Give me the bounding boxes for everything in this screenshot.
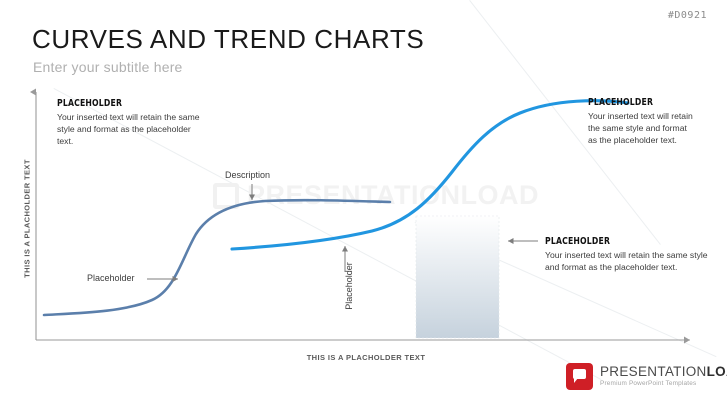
logo-name-bold: LOAD: [707, 364, 727, 379]
annotation-placeholder-left: Placeholder: [87, 273, 135, 283]
x-axis-label: THIS IS A PLACHOLDER TEXT: [236, 353, 496, 362]
trend-chart: [0, 0, 727, 409]
callout-top-right[interactable]: PLACEHOLDER Your inserted text will reta…: [588, 97, 696, 147]
speech-bubble-icon: [566, 363, 593, 390]
callout-top-left[interactable]: PLACEHOLDER Your inserted text will reta…: [57, 98, 207, 148]
logo-name-light: PRESENTATION: [600, 364, 707, 379]
callout-heading: PLACEHOLDER: [57, 98, 186, 109]
annotation-description: Description: [225, 170, 270, 180]
callout-body: Your inserted text will retain the same …: [57, 111, 207, 148]
curve-secondary: [44, 200, 390, 315]
presentationload-logo[interactable]: PRESENTATIONLOAD® Premium PowerPoint Tem…: [566, 363, 727, 390]
logo-tagline: Premium PowerPoint Templates: [600, 380, 727, 387]
slide: #D0921 CURVES AND TREND CHARTS Enter you…: [0, 0, 727, 409]
annotation-placeholder-vertical: Placeholder: [344, 241, 354, 331]
callout-heading: PLACEHOLDER: [588, 97, 681, 108]
callout-middle-right[interactable]: PLACEHOLDER Your inserted text will reta…: [545, 236, 715, 273]
chart-shaded-band: [416, 216, 499, 338]
logo-wordmark: PRESENTATIONLOAD® Premium PowerPoint Tem…: [600, 363, 727, 387]
callout-heading: PLACEHOLDER: [545, 236, 691, 247]
y-axis-label: THIS IS A PLACHOLDER TEXT: [23, 139, 32, 299]
callout-body: Your inserted text will retain the same …: [545, 249, 715, 273]
callout-body: Your inserted text will retain the same …: [588, 110, 696, 147]
